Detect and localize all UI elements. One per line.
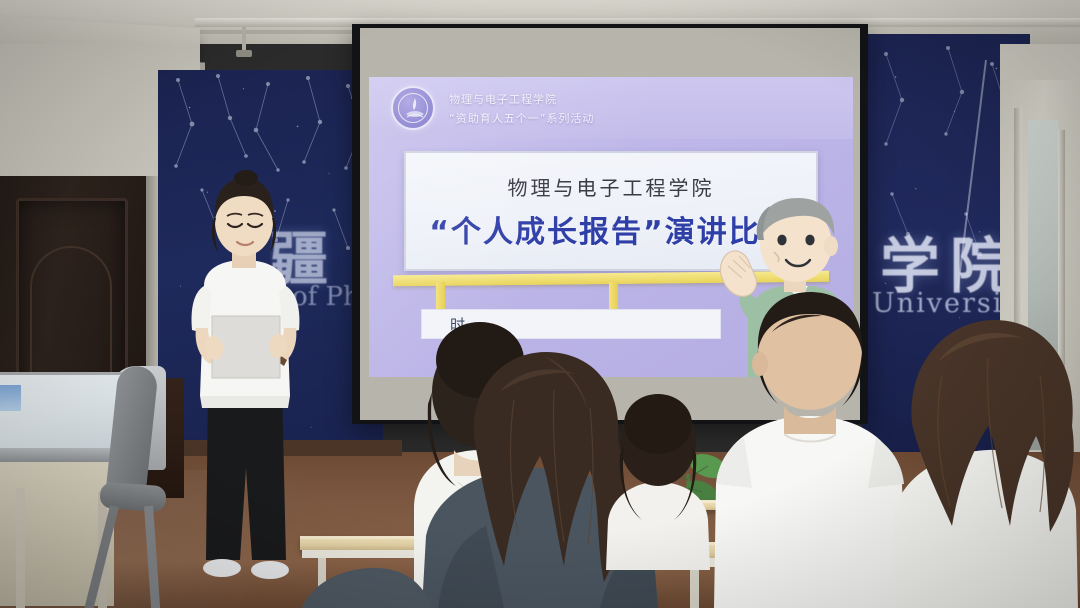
slide-header-line1: 物理与电子工程学院 <box>449 91 594 107</box>
audience-member-shoulder <box>302 560 432 608</box>
presenter-figure-icon <box>186 168 306 608</box>
chair-backrest <box>105 364 159 499</box>
right-wall-header-band <box>1000 44 1080 80</box>
university-seal-icon <box>391 86 435 130</box>
presenter-reading-paper <box>186 168 306 608</box>
chair-leg-front <box>84 505 119 608</box>
seal-emblem-icon <box>404 97 426 123</box>
slide-title-line1: 物理与电子工程学院 <box>508 172 715 201</box>
side-desk-leg-left <box>16 488 25 608</box>
audience-member-5 <box>880 296 1080 608</box>
slide-header-line2: “资助育人五个一”系列活动 <box>449 110 594 126</box>
slide-header-band: 物理与电子工程学院 “资助育人五个一”系列活动 <box>369 77 853 139</box>
laptop-screen-thumbnail <box>0 385 21 411</box>
chair-leg-back <box>144 506 161 608</box>
classroom-scene: 疆 师 of Ph 学院 University <box>0 0 1080 608</box>
audience-member-3 <box>596 380 716 570</box>
office-chair[interactable] <box>86 366 196 596</box>
ceiling-pipe-cap <box>236 50 252 57</box>
slide-header-text: 物理与电子工程学院 “资助育人五个一”系列活动 <box>449 91 594 126</box>
